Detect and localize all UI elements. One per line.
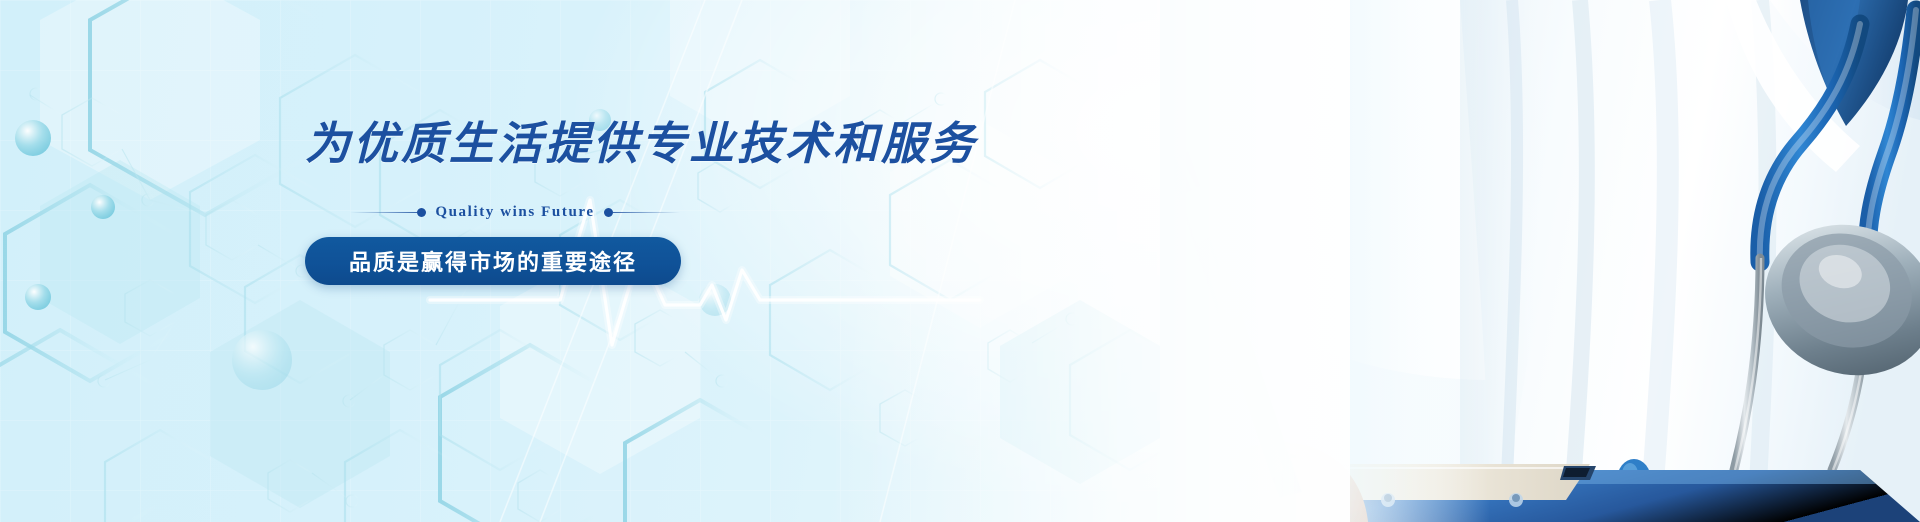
- divider-english-tagline: Quality wins Future: [426, 204, 603, 221]
- decor-sphere: [91, 195, 115, 219]
- banner-divider: Quality wins Future: [350, 204, 680, 221]
- divider-rule-left: [350, 212, 417, 213]
- hero-banner: 为优质生活提供专业技术和服务 Quality wins Future 品质是赢得…: [0, 0, 1920, 522]
- divider-rule-right: [613, 212, 680, 213]
- cta-button[interactable]: 品质是赢得市场的重要途径: [305, 237, 681, 285]
- divider-dot-right: [604, 208, 613, 217]
- decor-sphere: [232, 330, 292, 390]
- doctor-photo: [1160, 0, 1920, 522]
- banner-content: 为优质生活提供专业技术和服务 Quality wins Future 品质是赢得…: [305, 118, 945, 285]
- decor-sphere: [25, 284, 51, 310]
- divider-dot-left: [417, 208, 426, 217]
- decor-sphere: [15, 120, 51, 156]
- banner-headline: 为优质生活提供专业技术和服务: [305, 118, 945, 170]
